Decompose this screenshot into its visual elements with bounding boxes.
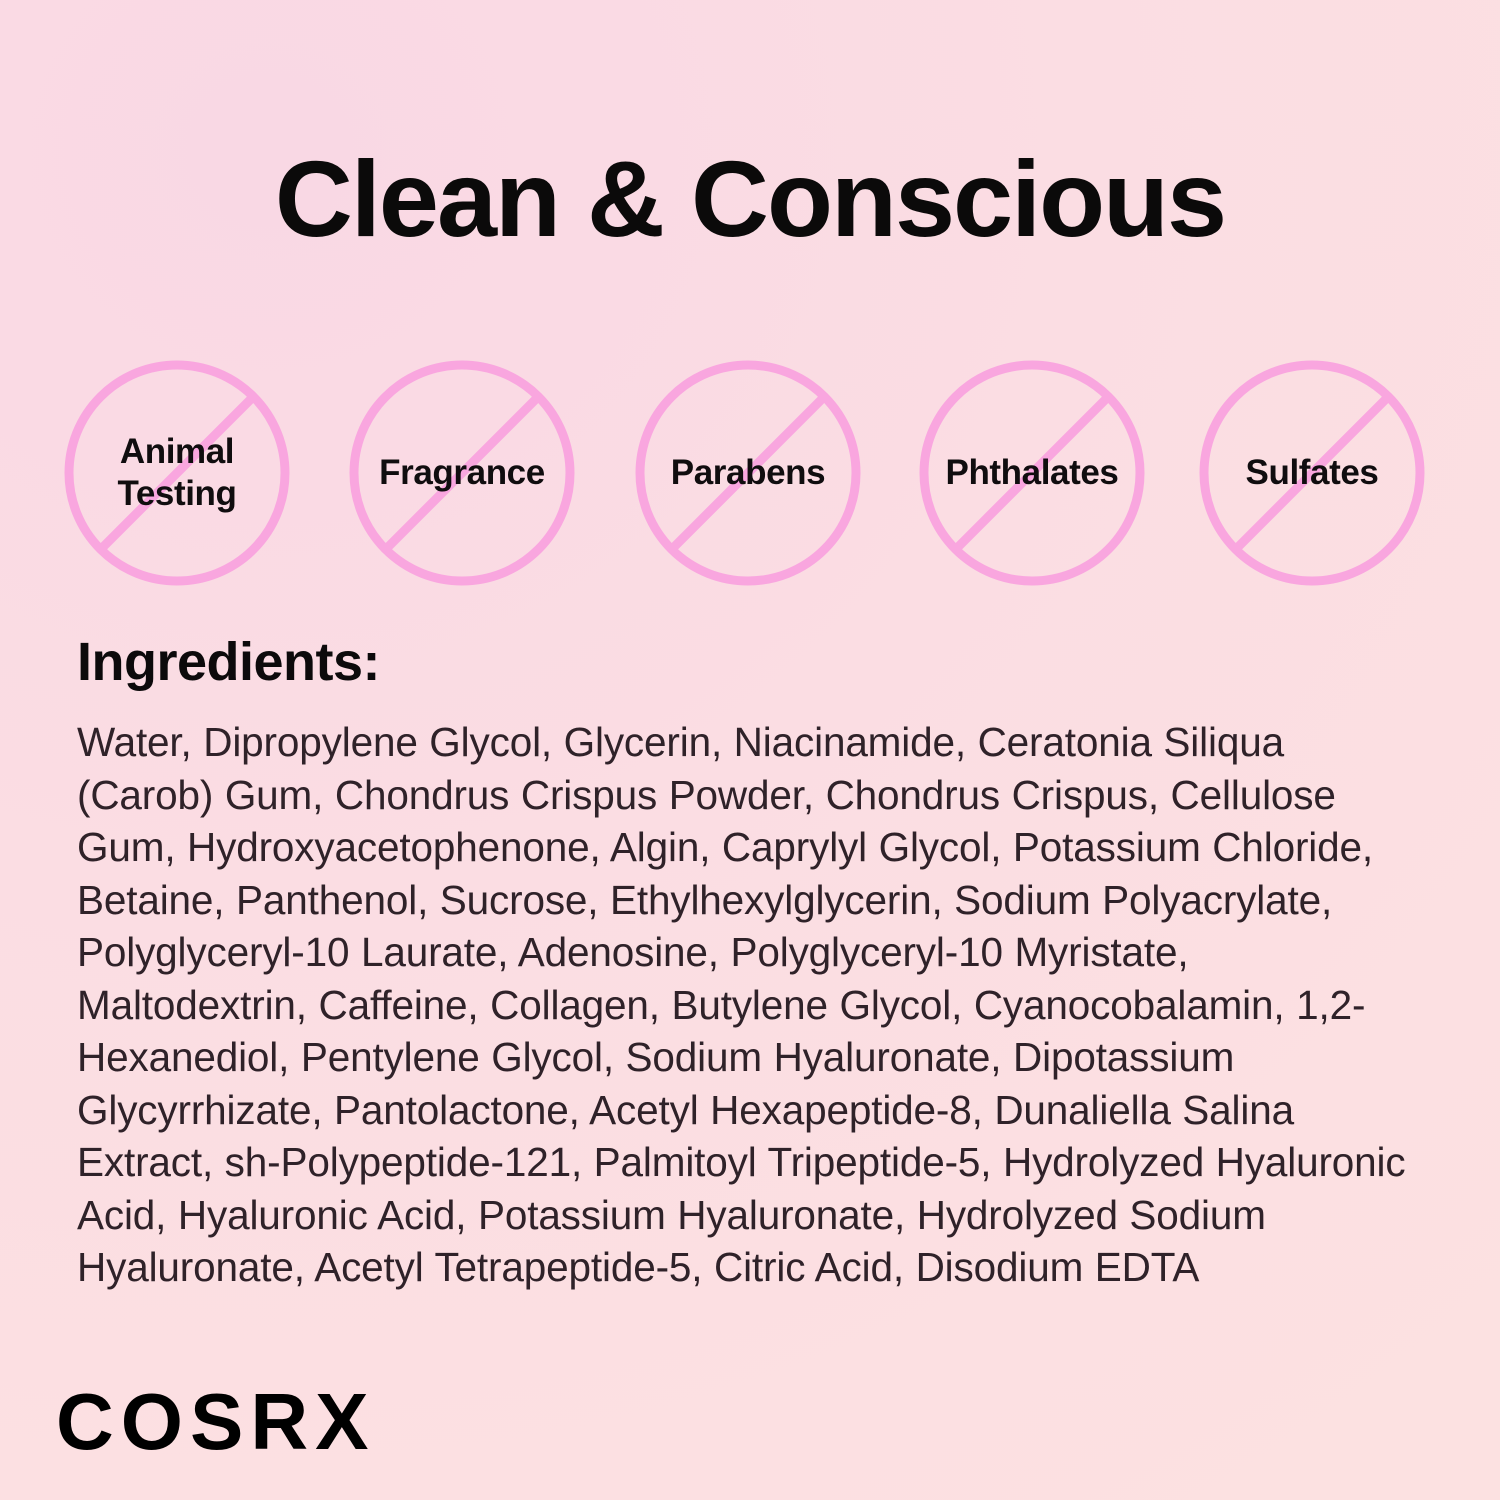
no-entry-icon <box>916 357 1148 589</box>
page-title: Clean & Conscious <box>0 143 1500 255</box>
badge-fragrance: Fragrance <box>346 357 578 589</box>
no-entry-icon <box>632 357 864 589</box>
brand-logo: COSRX <box>56 1378 376 1466</box>
no-entry-icon <box>61 357 293 589</box>
badge-phthalates: Phthalates <box>916 357 1148 589</box>
no-entry-icon <box>1196 357 1428 589</box>
ingredients-heading: Ingredients: <box>77 632 380 692</box>
ingredients-text: Water, Dipropylene Glycol, Glycerin, Nia… <box>77 716 1425 1294</box>
free-from-badge-row: AnimalTesting Fragrance Parabens Phthala… <box>0 357 1500 589</box>
badge-parabens: Parabens <box>632 357 864 589</box>
product-info-graphic: Clean & Conscious AnimalTesting Fragranc… <box>0 0 1500 1500</box>
badge-sulfates: Sulfates <box>1196 357 1428 589</box>
no-entry-icon <box>346 357 578 589</box>
badge-animal-testing: AnimalTesting <box>61 357 293 589</box>
